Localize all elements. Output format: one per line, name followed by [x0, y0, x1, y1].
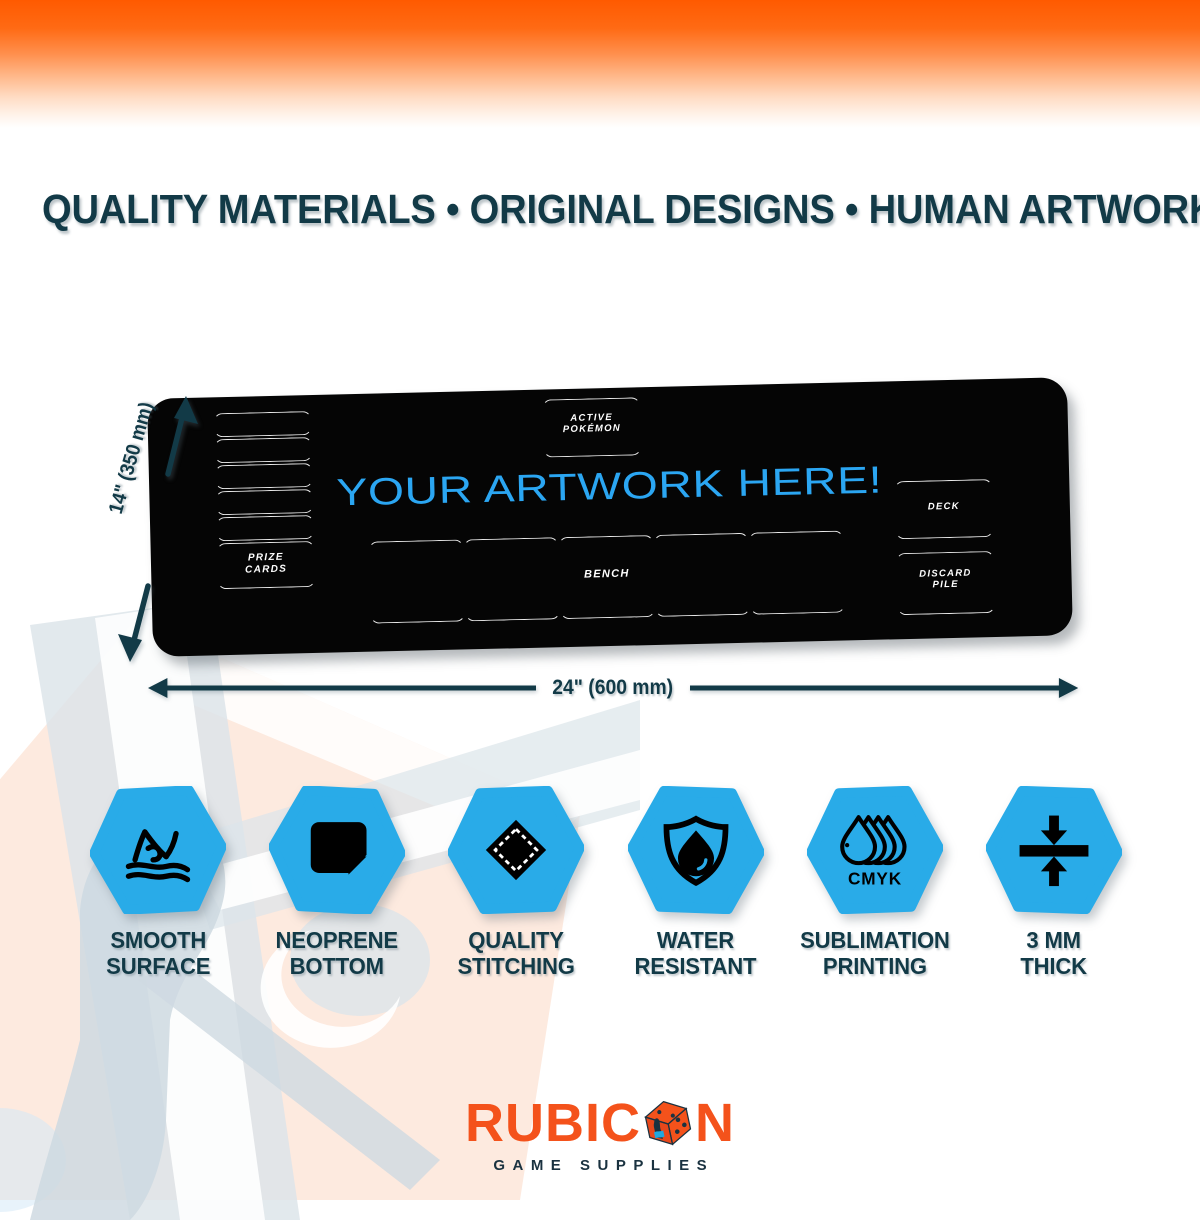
feature-caption: WATER RESISTANT: [635, 928, 757, 980]
height-dimension: 14" (350 mm): [110, 390, 220, 666]
width-arrow-right: [690, 668, 1078, 708]
bench-slot: [748, 531, 845, 615]
water-resistant-icon: [655, 809, 737, 891]
feature-smooth-surface: SMOOTH SURFACE: [76, 786, 240, 980]
prize-slot: [216, 515, 315, 541]
width-dimension-label: 24" (600 mm): [542, 676, 683, 700]
bench-slot: [653, 533, 750, 617]
neoprene-bottom-icon: [296, 809, 378, 891]
feature-list: SMOOTH SURFACE NEOPRENE BOTTOM: [76, 786, 1136, 996]
hex-badge: [90, 786, 226, 914]
hex-badge: CMYK: [807, 786, 943, 914]
feature-water-resistant: WATER RESISTANT: [614, 786, 778, 980]
bench-slot: [558, 535, 655, 619]
brand-logo: RUBIC N GAME SUPPLIES: [0, 1096, 1200, 1174]
feature-neoprene-bottom: NEOPRENE BOTTOM: [255, 786, 419, 980]
bench-slot: [463, 537, 560, 621]
playmat-surface: PRIZE CARDS ACTIVE POKÉMON YOUR ARTWORK …: [147, 377, 1073, 657]
dice-icon: [642, 1097, 694, 1149]
feature-thickness: 3 MM THICK: [972, 786, 1136, 980]
prize-slot: [217, 541, 316, 589]
prize-slot: [214, 437, 313, 463]
width-arrow-left: [148, 668, 536, 708]
hex-badge: [628, 786, 764, 914]
smooth-surface-icon: [117, 809, 199, 891]
discard-pile-slot: [896, 551, 995, 615]
feature-caption: SMOOTH SURFACE: [106, 928, 210, 980]
page-title: QUALITY MATERIALS • ORIGINAL DESIGNS • H…: [42, 186, 1158, 233]
width-dimension: 24" (600 mm): [148, 668, 1078, 708]
active-pokemon-slot: [542, 397, 641, 457]
bench-slot: [369, 539, 466, 623]
prize-slot: [213, 411, 312, 437]
quality-stitching-icon: [475, 809, 557, 891]
feature-caption: QUALITY STITCHING: [458, 928, 575, 980]
top-gradient-band: [0, 0, 1200, 128]
logo-word-right: N: [695, 1096, 735, 1150]
hex-badge: [448, 786, 584, 914]
deck-slot: [894, 479, 993, 539]
feature-caption: 3 MM THICK: [1021, 928, 1088, 980]
cmyk-printing-icon: CMYK: [834, 809, 916, 891]
feature-caption: NEOPRENE BOTTOM: [276, 928, 398, 980]
hex-badge: [269, 786, 405, 914]
logo-tagline: GAME SUPPLIES: [486, 1157, 714, 1174]
feature-quality-stitching: QUALITY STITCHING: [434, 786, 598, 980]
hex-badge: [986, 786, 1122, 914]
feature-caption: SUBLIMATION PRINTING: [800, 928, 950, 980]
playmat-diagram: PRIZE CARDS ACTIVE POKÉMON YOUR ARTWORK …: [150, 388, 1070, 658]
thickness-icon: [1013, 809, 1095, 891]
logo-word-left: RUBIC: [465, 1096, 641, 1150]
cmyk-glyph-text: CMYK: [848, 868, 902, 888]
feature-sublimation-printing: CMYK SUBLIMATION PRINTING: [793, 786, 957, 980]
